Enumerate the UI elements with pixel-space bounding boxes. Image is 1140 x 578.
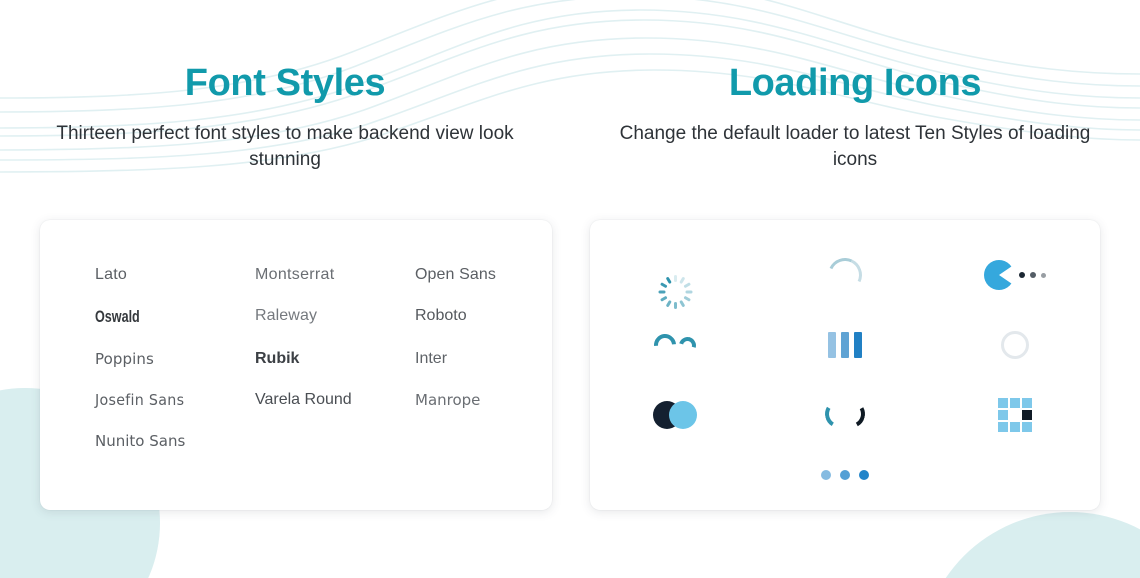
loading-icons-grid	[590, 220, 1100, 450]
dot-3	[859, 470, 869, 480]
page-root: Font Styles Thirteen perfect font styles…	[0, 0, 1140, 578]
spinner-bars-icon[interactable]	[828, 332, 862, 358]
panel-subtitle-loading-icons: Change the default loader to latest Ten …	[570, 121, 1140, 173]
square-9	[1022, 422, 1032, 432]
loader-cell-4[interactable]	[590, 310, 760, 380]
spinner-pacman-icon[interactable]	[984, 260, 1046, 290]
loader-cell-5[interactable]	[760, 310, 930, 380]
spinner-squares-icon[interactable]	[998, 398, 1032, 432]
font-item-josefin-sans[interactable]: Josefin Sans	[95, 391, 247, 409]
loader-cell-7[interactable]	[590, 380, 760, 450]
font-item-open-sans[interactable]: Open Sans	[415, 266, 552, 284]
font-item-oswald[interactable]: Oswald	[95, 307, 213, 327]
square-8	[1010, 422, 1020, 432]
loader-cell-10[interactable]	[590, 450, 1100, 500]
font-item-poppins[interactable]: Poppins	[95, 350, 255, 368]
square-2	[1010, 398, 1020, 408]
spinner-dots-icon[interactable]	[821, 470, 869, 480]
font-item-nunito-sans[interactable]: Nunito Sans	[95, 432, 255, 450]
pacman-dot-3	[1041, 273, 1046, 278]
font-item-montserrat[interactable]: Montserrat	[255, 266, 415, 284]
spinner-arc-icon[interactable]	[823, 253, 867, 297]
panel-subtitle-font-styles: Thirteen perfect font styles to make bac…	[0, 121, 570, 173]
loader-cell-3[interactable]	[930, 240, 1100, 310]
square-1	[998, 398, 1008, 408]
font-styles-card: Lato Montserrat Open Sans Oswald Raleway…	[40, 220, 552, 510]
loader-cell-9[interactable]	[930, 380, 1100, 450]
circle-light	[669, 401, 697, 429]
dot-1	[821, 470, 831, 480]
panel-loading-icons: Loading Icons Change the default loader …	[570, 0, 1140, 578]
font-item-varela-round[interactable]: Varela Round	[255, 391, 415, 409]
spinner-ring-icon[interactable]	[1001, 331, 1029, 359]
loader-cell-6[interactable]	[930, 310, 1100, 380]
spinner-brackets-icon[interactable]	[828, 400, 862, 430]
font-item-roboto[interactable]: Roboto	[415, 307, 552, 327]
bar-2	[841, 332, 849, 358]
square-4	[998, 410, 1008, 420]
spinner-crescent-icon[interactable]	[654, 334, 696, 356]
square-5-white	[1010, 410, 1020, 420]
loader-cell-8[interactable]	[760, 380, 930, 450]
crescent-arc-1	[650, 330, 681, 361]
page-title-font-styles: Font Styles	[0, 0, 570, 105]
loader-cell-2[interactable]	[760, 240, 930, 310]
spinner-ticks-icon[interactable]	[658, 258, 692, 292]
dot-2	[840, 470, 850, 480]
pacman-dot-2	[1030, 272, 1036, 278]
font-item-lato[interactable]: Lato	[95, 266, 255, 284]
bar-3	[854, 332, 862, 358]
square-6-dark	[1022, 410, 1032, 420]
crescent-arc-2	[676, 333, 699, 356]
pacman-dot-1	[1019, 272, 1025, 278]
page-title-loading-icons: Loading Icons	[570, 0, 1140, 105]
font-item-manrope[interactable]: Manrope	[415, 391, 552, 409]
font-item-raleway[interactable]: Raleway	[255, 307, 415, 327]
font-styles-grid: Lato Montserrat Open Sans Oswald Raleway…	[40, 220, 552, 450]
font-item-rubik[interactable]: Rubik	[255, 350, 415, 368]
loading-icons-card	[590, 220, 1100, 510]
loader-cell-1[interactable]	[590, 240, 760, 310]
bar-1	[828, 332, 836, 358]
square-3	[1022, 398, 1032, 408]
panel-font-styles: Font Styles Thirteen perfect font styles…	[0, 0, 570, 578]
spinner-circles-icon[interactable]	[653, 401, 697, 429]
pacman-body	[984, 260, 1014, 290]
square-7	[998, 422, 1008, 432]
font-item-inter[interactable]: Inter	[415, 350, 552, 368]
